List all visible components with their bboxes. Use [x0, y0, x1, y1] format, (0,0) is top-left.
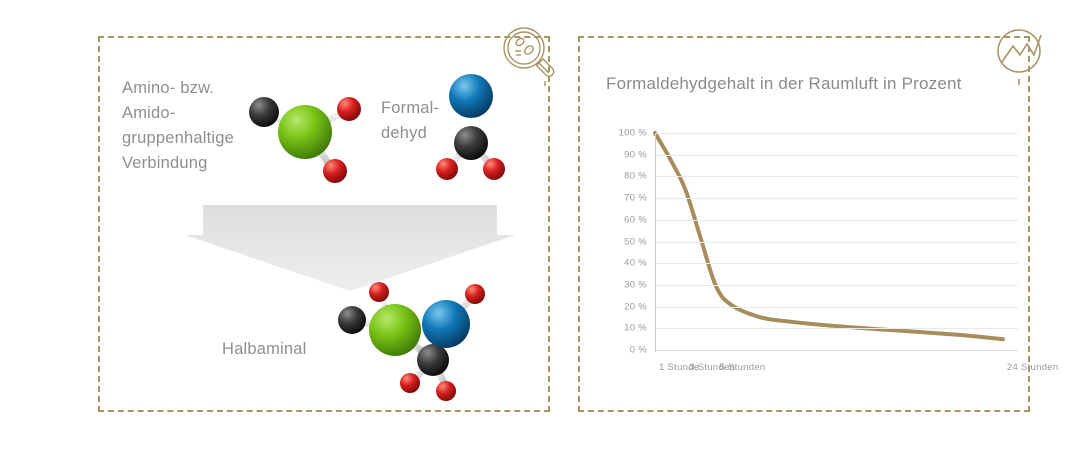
chart-y-tick-label: 90 % [603, 149, 647, 160]
chart-x-tick-label: 5 Stunden [720, 362, 766, 373]
chart-x-tick-label: 24 Stunden [1007, 362, 1059, 373]
trend-chart-circle-icon [988, 22, 1054, 88]
chart-gridline [655, 198, 1018, 199]
chart-gridline [655, 263, 1018, 264]
chart-y-tick-label: 80 % [603, 171, 647, 182]
formaldehyde-line-chart: 100 %90 %80 %70 %60 %50 %40 %30 %20 %10 … [578, 110, 1030, 390]
chart-title: Formaldehydgehalt in der Raumluft in Pro… [606, 74, 962, 94]
chart-gridline [655, 285, 1018, 286]
chart-y-tick-label: 50 % [603, 236, 647, 247]
chart-y-tick-label: 10 % [603, 323, 647, 334]
chart-y-tick-label: 30 % [603, 279, 647, 290]
chart-y-tick-label: 0 % [603, 345, 647, 356]
chart-y-tick-label: 20 % [603, 301, 647, 312]
chart-gridline [655, 328, 1018, 329]
chart-y-tick-label: 60 % [603, 214, 647, 225]
screenshot-stage: Amino- bzw. Amido- gruppenhaltige Verbin… [0, 0, 1080, 462]
chart-gridline [655, 242, 1018, 243]
chart-gridline [655, 133, 1018, 134]
chart-gridline [655, 155, 1018, 156]
formaldehyde-molecule [430, 70, 530, 190]
chart-y-tick-label: 40 % [603, 258, 647, 269]
chart-gridline [655, 350, 1018, 351]
chart-y-tick-label: 70 % [603, 193, 647, 204]
chart-gridline [655, 176, 1018, 177]
chart-series-line [655, 133, 1003, 339]
halbaminal-molecule [322, 272, 512, 402]
chart-y-tick-label: 100 % [603, 128, 647, 139]
chart-y-axis [655, 133, 656, 352]
chart-gridline [655, 307, 1018, 308]
chart-gridline [655, 220, 1018, 221]
amino-compound-molecule [236, 82, 376, 192]
